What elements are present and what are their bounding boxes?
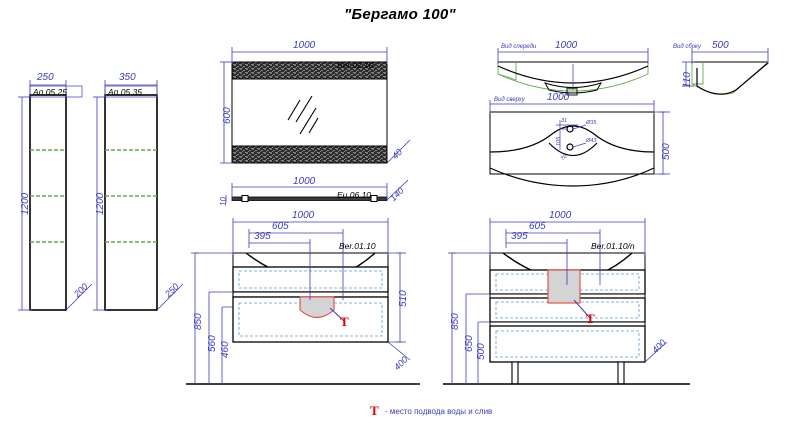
sink-top-depth-dim: 500 [661, 143, 672, 160]
mirror-width-dim: 1000 [293, 40, 315, 51]
sink-top-view-drawing [490, 100, 670, 186]
sink-hole-bottom-diameter: Ø43 [586, 138, 596, 144]
vanity-left-560-dim: 560 [207, 335, 218, 352]
sink-front-width-dim: 1000 [555, 40, 577, 51]
mirror-height-dim: 600 [222, 107, 233, 124]
vanity-left-width-dim: 1000 [292, 210, 314, 221]
sink-hole-offset-a: 31 [561, 118, 567, 124]
mirror-drawing [220, 47, 410, 163]
vanity-left-395-dim: 395 [254, 231, 271, 242]
legend-text: - место подвода воды и слив [385, 407, 492, 416]
cabinet-1-name: Ап.05.25 [33, 87, 67, 97]
sink-top-width-dim: 1000 [547, 92, 569, 103]
vanity-left-460-dim: 460 [220, 341, 231, 358]
cabinet-1-height-dim: 1200 [20, 193, 31, 215]
vanity-right-width-dim: 1000 [549, 210, 571, 221]
vanity-left-body-height-dim: 510 [398, 290, 409, 307]
vanity-right-500-dim: 500 [476, 343, 487, 360]
sink-side-view-label: Вид сбоку [673, 44, 701, 50]
cabinet-2-width-dim: 350 [119, 72, 136, 83]
sink-front-view-drawing [498, 48, 648, 95]
vanity-right-395-dim: 395 [511, 231, 528, 242]
mirror-name: Ber.02.10 [337, 60, 374, 70]
sink-side-height-dim: 110 [682, 72, 693, 88]
water-supply-marker-right: T [586, 311, 595, 327]
shelf-drawing [226, 180, 408, 203]
legend-marker: T [370, 403, 379, 419]
vanity-left-name: Ber.01.10 [339, 241, 376, 251]
sink-top-view-label: Вид сверху [494, 97, 525, 103]
vanity-right-650-dim: 650 [464, 335, 475, 352]
sink-side-width-dim: 500 [712, 40, 729, 51]
technical-drawing-canvas: "Бергамо 100" [0, 0, 800, 430]
shelf-name: Eu.06.10 [337, 190, 371, 200]
shelf-width-dim: 1000 [293, 176, 315, 187]
cabinet-2-height-dim: 1200 [95, 193, 106, 215]
vanity-left-850-dim: 850 [193, 313, 204, 330]
tall-cabinet-2-drawing [93, 80, 183, 310]
cabinet-1-width-dim: 250 [37, 72, 54, 83]
sink-hole-offset-b: 105 [556, 137, 562, 146]
vanity-right-name: Ber.01.10/n [591, 241, 635, 251]
vanity-left-605-dim: 605 [272, 221, 289, 232]
vanity-right-605-dim: 605 [529, 221, 546, 232]
sink-side-view-drawing [682, 48, 768, 94]
sink-hole-top-diameter: Ø35 [586, 120, 596, 126]
sink-front-view-label: Вид спереди [501, 44, 536, 50]
vanity-left-drawing [186, 218, 420, 384]
water-supply-marker-left: T [340, 314, 349, 330]
cabinet-2-name: Ап.05.35 [108, 87, 142, 97]
vanity-right-850-dim: 850 [450, 313, 461, 330]
shelf-thickness-dim: 10 [219, 197, 228, 206]
